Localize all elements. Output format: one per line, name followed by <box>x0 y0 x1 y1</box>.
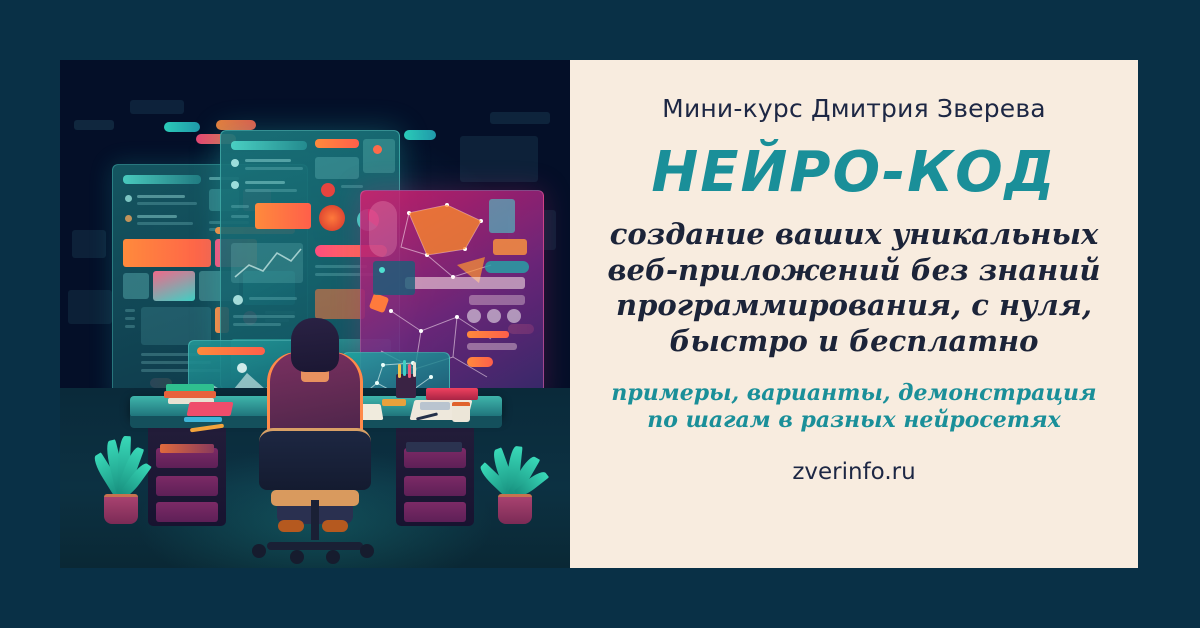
chair-back <box>259 428 371 490</box>
person-head <box>291 318 339 372</box>
chair-caster <box>252 544 266 558</box>
bg-ghost-card <box>72 230 106 258</box>
floating-chip <box>404 130 436 140</box>
chair-pole <box>311 500 319 540</box>
floating-chip <box>216 120 256 130</box>
lead-line: быстро и бесплатно <box>608 324 1101 360</box>
chair-caster <box>326 550 340 564</box>
chair-caster <box>360 544 374 558</box>
pen <box>398 364 401 378</box>
page-title: НЕЙРО-КОД <box>651 145 1056 201</box>
chair-caster <box>290 550 304 564</box>
promo-banner: Мини-курс Дмитрия Зверева НЕЙРО-КОД созд… <box>0 0 1200 628</box>
content-panel: Мини-курс Дмитрия Зверева НЕЙРО-КОД созд… <box>570 60 1138 568</box>
chair-base <box>267 542 363 550</box>
cabinet-left <box>148 422 226 526</box>
lead-line: программирования, с нуля, <box>608 288 1101 324</box>
lead-paragraph: создание ваших уникальных веб-приложений… <box>608 217 1101 360</box>
bg-ghost-card <box>490 112 550 124</box>
illustration <box>60 60 570 568</box>
shoe <box>278 520 304 532</box>
pen <box>408 364 411 378</box>
bg-ghost-card <box>460 136 538 182</box>
subtitle-paragraph: примеры, варианты, демонстрация по шагам… <box>611 380 1096 435</box>
bg-ghost-card <box>130 100 184 114</box>
book-stack <box>164 391 216 398</box>
cabinet-right <box>396 422 474 526</box>
kicker-text: Мини-курс Дмитрия Зверева <box>662 94 1046 123</box>
notebook <box>184 417 222 422</box>
lead-line: создание ваших уникальных <box>608 217 1101 253</box>
small-book <box>382 399 406 406</box>
floating-chip <box>164 122 200 132</box>
subtitle-line: примеры, варианты, демонстрация <box>611 380 1096 408</box>
notebook <box>187 402 234 416</box>
shoe <box>322 520 348 532</box>
lead-line: веб-приложений без знаний <box>608 253 1101 289</box>
website-url: zverinfo.ru <box>792 459 915 485</box>
bg-ghost-card <box>68 290 112 324</box>
subtitle-line: по шагам в разных нейросетях <box>611 407 1096 435</box>
red-book <box>426 388 478 400</box>
calculator <box>420 402 450 410</box>
coffee-cup <box>452 402 470 422</box>
pen <box>403 360 406 376</box>
pen <box>413 362 416 377</box>
bg-ghost-card <box>74 120 114 130</box>
